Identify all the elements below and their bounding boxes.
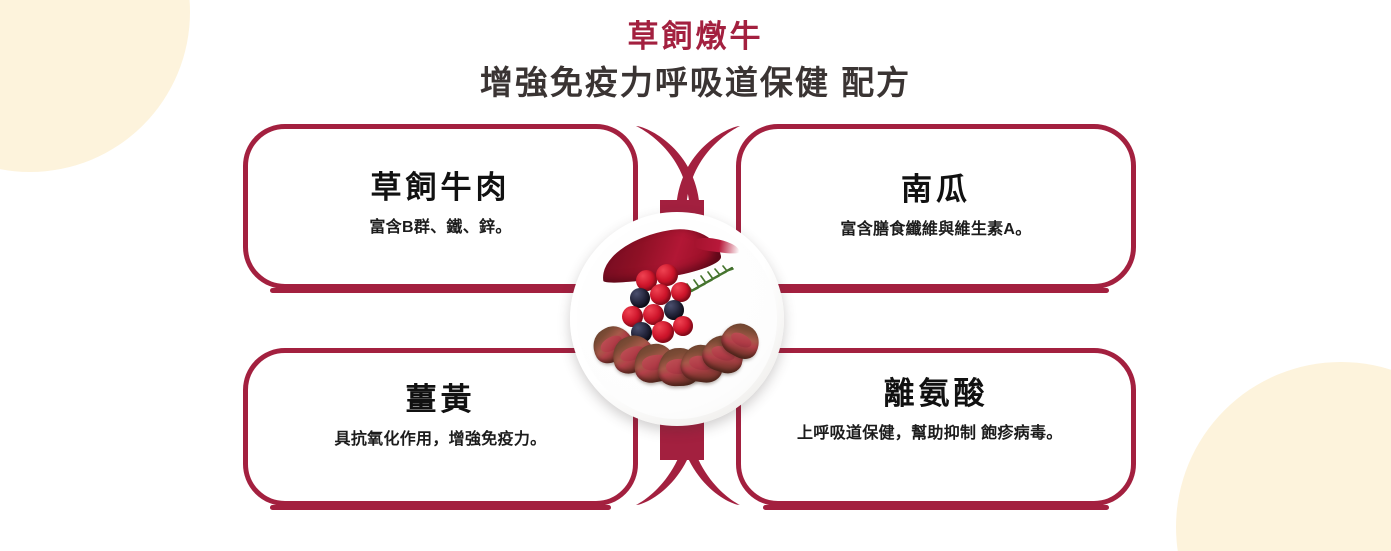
- card-content: 離氨酸 上呼吸道保健，幫助抑制 飽疹病毒。: [741, 375, 1131, 448]
- cranberry: [652, 321, 674, 343]
- card-description-beef: 富含B群、鐵、鋅。: [262, 215, 619, 241]
- header-block: 草飼燉牛 增強免疫力呼吸道保健 配方: [0, 18, 1391, 105]
- card-description-lysine: 上呼吸道保健，幫助抑制 飽疹病毒。: [755, 421, 1117, 447]
- card-title-lysine: 離氨酸: [755, 375, 1117, 412]
- decorative-circle-bottom-right: [1176, 362, 1391, 551]
- card-description-pumpkin: 富含膳食纖維與維生素A。: [755, 217, 1117, 243]
- page-title: 草飼燉牛: [0, 18, 1391, 57]
- card-content: 南瓜 富含膳食纖維與維生素A。: [741, 171, 1131, 244]
- center-food-image: [570, 212, 784, 426]
- card-description-turmeric: 具抗氧化作用，增強免疫力。: [262, 427, 619, 453]
- page-subtitle: 增強免疫力呼吸道保健 配方: [0, 62, 1391, 105]
- white-plate: [570, 212, 784, 426]
- cranberry: [671, 282, 691, 302]
- card-title-beef: 草飼牛肉: [262, 169, 619, 206]
- card-title-pumpkin: 南瓜: [755, 171, 1117, 208]
- ingredient-card-pumpkin[interactable]: 南瓜 富含膳食纖維與維生素A。: [736, 124, 1136, 289]
- ingredient-card-lysine[interactable]: 離氨酸 上呼吸道保健，幫助抑制 飽疹病毒。: [736, 348, 1136, 506]
- cranberry: [673, 316, 693, 336]
- infographic-canvas: 草飼燉牛 增強免疫力呼吸道保健 配方 草飼牛肉 富含B群、鐵、鋅。 南瓜 富含膳…: [0, 0, 1391, 551]
- card-title-turmeric: 薑黃: [262, 381, 619, 418]
